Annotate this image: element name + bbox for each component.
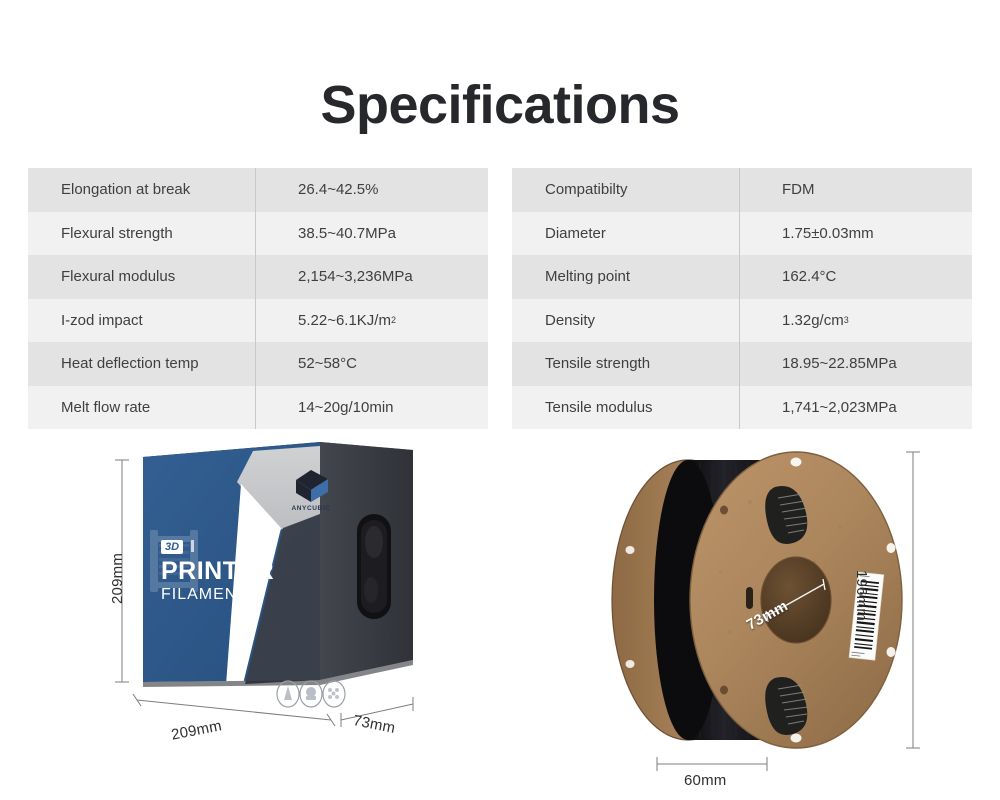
anycubic-cube-icon [290, 468, 332, 504]
page-title: Specifications [0, 78, 1000, 132]
spec-value: 5.22~6.1KJ/m2 [256, 299, 488, 343]
spec-key: Diameter [512, 212, 740, 256]
table-row: Tensile strength 18.95~22.85MPa [512, 342, 972, 386]
spec-value: 52~58°C [256, 342, 488, 386]
table-row: Flexural strength 38.5~40.7MPa [28, 212, 488, 256]
table-row: Density 1.32g/cm3 [512, 299, 972, 343]
table-row: Melt flow rate 14~20g/10min [28, 386, 488, 430]
spec-key: I-zod impact [28, 299, 256, 343]
spec-key: Melting point [512, 255, 740, 299]
spec-value: 1.32g/cm3 [740, 299, 972, 343]
product-figure: ANYCUBIC 3D PRINTER FILAMENT [0, 432, 1000, 800]
box-height-label: 209mm [109, 553, 126, 604]
badge-divider-icon [191, 540, 194, 552]
table-row: Heat deflection temp 52~58°C [28, 342, 488, 386]
spool-width-label: 60mm [684, 772, 726, 789]
badge-3d: 3D [161, 540, 183, 554]
table-row: Elongation at break 26.4~42.5% [28, 168, 488, 212]
spec-key: Elongation at break [28, 168, 256, 212]
spec-value: 14~20g/10min [256, 386, 488, 430]
certification-badges-icon [275, 679, 347, 709]
spec-value: 38.5~40.7MPa [256, 212, 488, 256]
table-row: Tensile modulus 1,741~2,023MPa [512, 386, 972, 430]
spec-key: Melt flow rate [28, 386, 256, 430]
spec-value: FDM [740, 168, 972, 212]
spec-value-text: 5.22~6.1KJ/m [298, 312, 391, 329]
spec-value: 26.4~42.5% [256, 168, 488, 212]
spec-key: Heat deflection temp [28, 342, 256, 386]
spec-key: Density [512, 299, 740, 343]
spec-key: Tensile modulus [512, 386, 740, 430]
spec-key: Tensile strength [512, 342, 740, 386]
spec-value: 18.95~22.85MPa [740, 342, 972, 386]
box-front-text: 3D PRINTER FILAMENT [161, 537, 274, 605]
spec-key: Flexural strength [28, 212, 256, 256]
box-headline-filament: FILAMENT [161, 585, 274, 605]
filament-spool-illustration: 73mm 196mm 60mm [600, 432, 930, 800]
table-row: Diameter 1.75±0.03mm [512, 212, 972, 256]
brand-name: ANYCUBIC [281, 505, 341, 512]
spec-value: 2,154~3,236MPa [256, 255, 488, 299]
brand-block: ANYCUBIC [281, 468, 341, 512]
table-row: Melting point 162.4°C [512, 255, 972, 299]
box-headline-printer: PRINTER [161, 557, 274, 585]
table-row: I-zod impact 5.22~6.1KJ/m2 [28, 299, 488, 343]
spec-key: Flexural modulus [28, 255, 256, 299]
filament-box-illustration: ANYCUBIC 3D PRINTER FILAMENT [95, 432, 445, 800]
spec-table-right: Compatibilty FDM Diameter 1.75±0.03mm Me… [512, 168, 972, 429]
spec-value-text: 1.32g/cm [782, 312, 844, 329]
spec-value: 162.4°C [740, 255, 972, 299]
spec-value: 1,741~2,023MPa [740, 386, 972, 430]
spec-value: 1.75±0.03mm [740, 212, 972, 256]
spec-table-left: Elongation at break 26.4~42.5% Flexural … [28, 168, 488, 429]
spec-key: Compatibilty [512, 168, 740, 212]
table-row: Flexural modulus 2,154~3,236MPa [28, 255, 488, 299]
table-row: Compatibilty FDM [512, 168, 972, 212]
filament-box-graphic [95, 432, 445, 800]
spool-outer-diameter-label: 196mm [853, 570, 870, 621]
